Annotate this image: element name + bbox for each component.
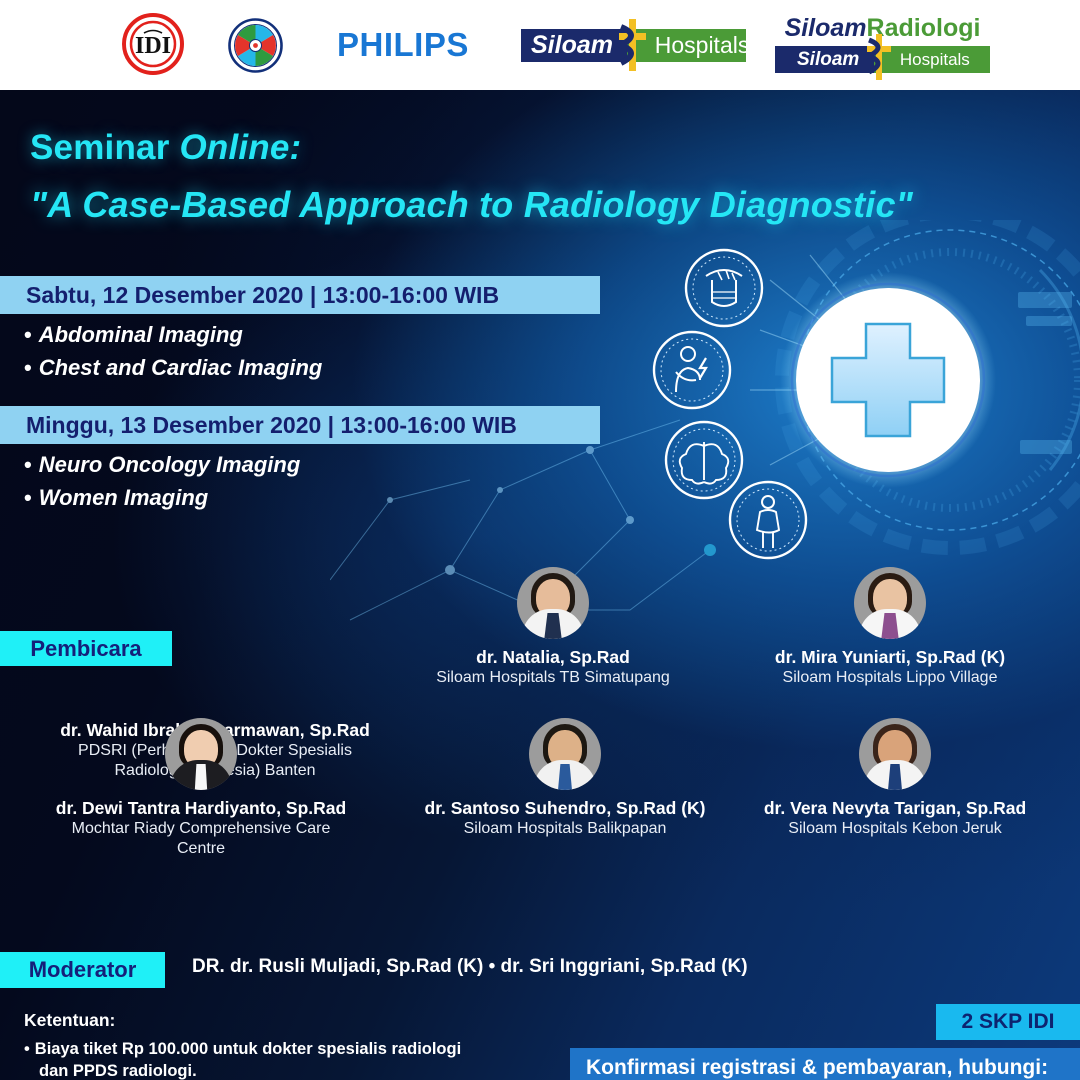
topic-label: Women Imaging [39, 485, 209, 510]
siloam-radiologi-logo: Siloam Radiologi Siloam Hospitals [775, 14, 990, 76]
moderator-names: DR. dr. Rusli Muljadi, Sp.Rad (K) • dr. … [192, 956, 748, 978]
speaker-affiliation: Siloam Hospitals Lippo Village [735, 668, 1045, 688]
topic-item: •Abdominal Imaging [24, 322, 322, 348]
siloam-radiologi-word1: Siloam [785, 14, 867, 43]
speaker-name: dr. Vera Nevyta Tarigan, Sp.Rad [740, 798, 1050, 819]
title-online-word: Online: [179, 128, 301, 167]
seminar-poster: IDI PHILIPS Siloam Hospitals [0, 0, 1080, 1080]
philips-logo: PHILIPS [337, 26, 469, 64]
siloam-caduceus-icon [611, 19, 653, 71]
speaker-card: dr. Santoso Suhendro, Sp.Rad (K) Siloam … [410, 718, 720, 839]
idi-logo: IDI [122, 13, 184, 75]
schedule-date-bar-day2: Minggu, 13 Desember 2020 | 13:00-16:00 W… [0, 406, 600, 444]
speaker-name: dr. Dewi Tantra Hardiyanto, Sp.Rad [46, 798, 356, 819]
speaker-avatar [517, 567, 589, 639]
moderator-section-badge: Moderator [0, 952, 165, 988]
terms-heading: Ketentuan: [24, 1010, 562, 1031]
abdomen-imaging-icon [686, 250, 762, 326]
terms-text: Biaya tiket Rp 100.000 untuk dokter spes… [35, 1040, 461, 1058]
svg-text:IDI: IDI [135, 33, 171, 59]
seminar-title: Seminar Online: "A Case-Based Approach t… [30, 128, 913, 226]
contact-heading: Konfirmasi registrasi & pembayaran, hubu… [570, 1048, 1080, 1080]
schedule-topics-day1: •Abdominal Imaging •Chest and Cardiac Im… [24, 322, 322, 388]
topic-label: Chest and Cardiac Imaging [39, 355, 323, 380]
medical-tech-graphic [620, 220, 1080, 580]
speaker-name: dr. Natalia, Sp.Rad [398, 647, 708, 668]
speaker-card: dr. Mira Yuniarti, Sp.Rad (K) Siloam Hos… [735, 567, 1045, 688]
speaker-affiliation: Mochtar Riady Comprehensive Care Centre [46, 819, 356, 859]
siloam-hospitals-logo: Siloam Hospitals [521, 29, 746, 62]
siloam-radiologi-caduceus-icon [861, 34, 897, 80]
terms-section: Ketentuan: •Biaya tiket Rp 100.000 untuk… [24, 1010, 562, 1080]
title-line-2: "A Case-Based Approach to Radiology Diag… [30, 184, 913, 226]
topic-item: •Women Imaging [24, 485, 300, 511]
speaker-card: dr. Dewi Tantra Hardiyanto, Sp.Rad Mocht… [46, 718, 356, 859]
schedule-date-bar-day1: Sabtu, 12 Desember 2020 | 13:00-16:00 WI… [0, 276, 600, 314]
topic-item: •Neuro Oncology Imaging [24, 452, 300, 478]
topic-label: Neuro Oncology Imaging [39, 452, 301, 477]
contact-panel: Konfirmasi registrasi & pembayaran, hubu… [570, 1048, 1080, 1080]
speaker-affiliation: Siloam Hospitals Kebon Jeruk [740, 819, 1050, 839]
schedule-topics-day2: •Neuro Oncology Imaging •Women Imaging [24, 452, 300, 518]
topic-label: Abdominal Imaging [39, 322, 243, 347]
speaker-avatar [165, 718, 237, 790]
speaker-avatar [859, 718, 931, 790]
sponsor-logo-bar: IDI PHILIPS Siloam Hospitals [0, 0, 1080, 90]
chest-cardiac-imaging-icon [654, 332, 730, 408]
terms-item: •Biaya tiket Rp 100.000 untuk dokter spe… [24, 1038, 562, 1080]
speaker-card: dr. Vera Nevyta Tarigan, Sp.Rad Siloam H… [740, 718, 1050, 839]
pdsri-emblem-logo [228, 18, 283, 73]
speaker-avatar [529, 718, 601, 790]
speakers-section-badge: Pembicara [0, 631, 172, 666]
speaker-name: dr. Santoso Suhendro, Sp.Rad (K) [410, 798, 720, 819]
poster-body: Seminar Online: "A Case-Based Approach t… [0, 90, 1080, 1080]
terms-text: dan PPDS radiologi. [24, 1060, 197, 1080]
speaker-avatar [854, 567, 926, 639]
speaker-affiliation: Siloam Hospitals TB Simatupang [398, 668, 708, 688]
skp-credit-badge: 2 SKP IDI [936, 1004, 1080, 1040]
title-seminar-word: Seminar [30, 128, 179, 167]
topic-item: •Chest and Cardiac Imaging [24, 355, 322, 381]
women-imaging-icon [730, 482, 806, 558]
siloam-radiologi-sub1: Siloam [775, 46, 874, 73]
brain-imaging-icon [666, 422, 742, 498]
speaker-name: dr. Mira Yuniarti, Sp.Rad (K) [735, 647, 1045, 668]
speaker-affiliation: Siloam Hospitals Balikpapan [410, 819, 720, 839]
title-line-1: Seminar Online: [30, 128, 913, 168]
speaker-card: dr. Natalia, Sp.Rad Siloam Hospitals TB … [398, 567, 708, 688]
